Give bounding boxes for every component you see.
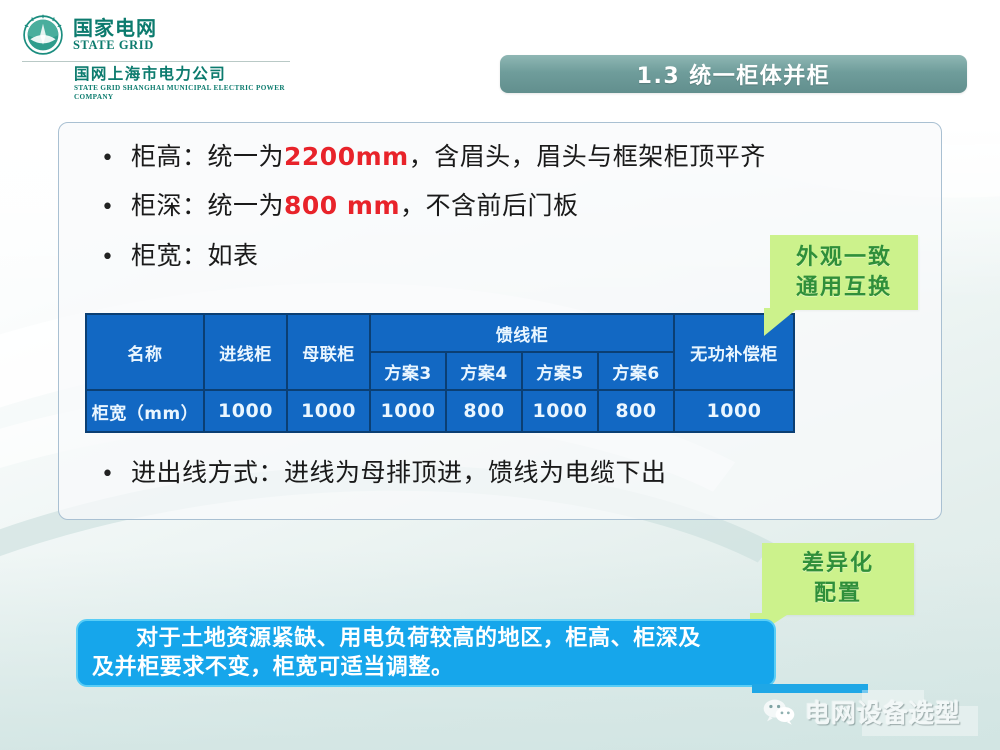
brand-logo-block: 国家电网 STATE GRID 国网上海市电力公司 STATE GRID SHA… — [22, 14, 312, 103]
state-grid-globe-logo — [22, 14, 64, 56]
table-cell-bus-tie-width: 1000 — [287, 390, 370, 432]
callout-appearance-line2: 通用互换 — [796, 273, 892, 303]
logo-wordmark: 国家电网 STATE GRID — [73, 18, 157, 53]
table-header-group-feeder: 馈线柜 — [370, 314, 674, 352]
list-item: • 进出线方式：进线为母排顶进，馈线为电缆下出 — [59, 457, 667, 488]
watermark-label: 电网设备选型 — [805, 694, 961, 730]
table-row: 名称 进线柜 母联柜 馈线柜 无功补偿柜 — [86, 314, 794, 352]
table-cell-plan4-width: 800 — [446, 390, 522, 432]
highlight-value: 2200mm — [284, 142, 409, 171]
callout-tail-icon — [764, 308, 798, 336]
note-line-1: 对于土地资源紧缺、用电负荷较高的地区，柜高、柜深及 — [92, 624, 760, 653]
list-item: • 柜深：统一为800 mm，不含前后门板 — [59, 190, 941, 221]
logo-divider — [22, 61, 290, 62]
bullet-marker: • — [101, 197, 131, 219]
table-row-label-width: 柜宽（mm） — [86, 390, 204, 432]
table-header-plan6: 方案6 — [598, 352, 674, 390]
callout-differentiation-line2: 配置 — [814, 579, 862, 609]
text-segment: 柜高：统一为 — [131, 142, 284, 171]
callout-appearance: 外观一致 通用互换 — [770, 235, 918, 310]
text-segment: ，含眉头，眉头与框架柜顶平齐 — [409, 142, 766, 171]
table-cell-plan5-width: 1000 — [522, 390, 598, 432]
table-header-plan5: 方案5 — [522, 352, 598, 390]
callout-differentiation-line1: 差异化 — [802, 549, 874, 579]
callout-appearance-line1: 外观一致 — [796, 243, 892, 273]
table-row: 柜宽（mm） 1000 1000 1000 800 1000 800 1000 — [86, 390, 794, 432]
bullet-text-cable-entry: 进出线方式：进线为母排顶进，馈线为电缆下出 — [131, 457, 667, 488]
logo-company-en: STATE GRID — [73, 39, 157, 53]
table-header-plan3: 方案3 — [370, 352, 446, 390]
slide-canvas: 国家电网 STATE GRID 国网上海市电力公司 STATE GRID SHA… — [0, 0, 1000, 750]
bullet-text-cabinet-depth: 柜深：统一为800 mm，不含前后门板 — [131, 190, 579, 221]
bottom-note-box: 对于土地资源紧缺、用电负荷较高的地区，柜高、柜深及 及并柜要求不变，柜宽可适当调… — [76, 619, 776, 687]
table-cell-incoming-width: 1000 — [204, 390, 287, 432]
table-cell-plan3-width: 1000 — [370, 390, 446, 432]
watermark-blue-bar — [752, 684, 868, 693]
logo-subsidiary-en: STATE GRID SHANGHAI MUNICIPAL ELECTRIC P… — [22, 84, 312, 103]
bullet-marker: • — [101, 247, 131, 269]
wechat-icon — [762, 697, 796, 727]
logo-subsidiary-cn: 国网上海市电力公司 — [22, 66, 312, 84]
note-line-2: 及并柜要求不变，柜宽可适当调整。 — [92, 653, 760, 682]
table-header-incoming: 进线柜 — [204, 314, 287, 390]
logo-company-cn: 国家电网 — [73, 18, 157, 39]
list-item: • 柜高：统一为2200mm，含眉头，眉头与框架柜顶平齐 — [59, 141, 941, 172]
table-cell-plan6-width: 800 — [598, 390, 674, 432]
callout-differentiation: 差异化 配置 — [762, 543, 914, 615]
bullet-marker: • — [101, 464, 131, 486]
cabinet-width-table: 名称 进线柜 母联柜 馈线柜 无功补偿柜 方案3 方案4 方案5 方案6 柜宽（… — [85, 313, 795, 433]
table-header-plan4: 方案4 — [446, 352, 522, 390]
table-header-bus-tie: 母联柜 — [287, 314, 370, 390]
logo-primary-row: 国家电网 STATE GRID — [22, 14, 312, 56]
text-segment: ，不含前后门板 — [400, 191, 579, 220]
text-segment: 柜深：统一为 — [131, 191, 284, 220]
slide-title-bar: 1.3 统一柜体并柜 — [500, 55, 967, 93]
table-cell-reactive-width: 1000 — [674, 390, 794, 432]
bullet-text-cabinet-height: 柜高：统一为2200mm，含眉头，眉头与框架柜顶平齐 — [131, 141, 766, 172]
watermark: 电网设备选型 — [762, 694, 961, 730]
bullet-marker: • — [101, 148, 131, 170]
highlight-value: 800 mm — [284, 191, 400, 220]
page-title: 1.3 统一柜体并柜 — [637, 58, 831, 90]
bullet-text-cabinet-width: 柜宽：如表 — [131, 240, 259, 271]
content-panel: • 柜高：统一为2200mm，含眉头，眉头与框架柜顶平齐 • 柜深：统一为800… — [58, 122, 942, 520]
table-header-name: 名称 — [86, 314, 204, 390]
